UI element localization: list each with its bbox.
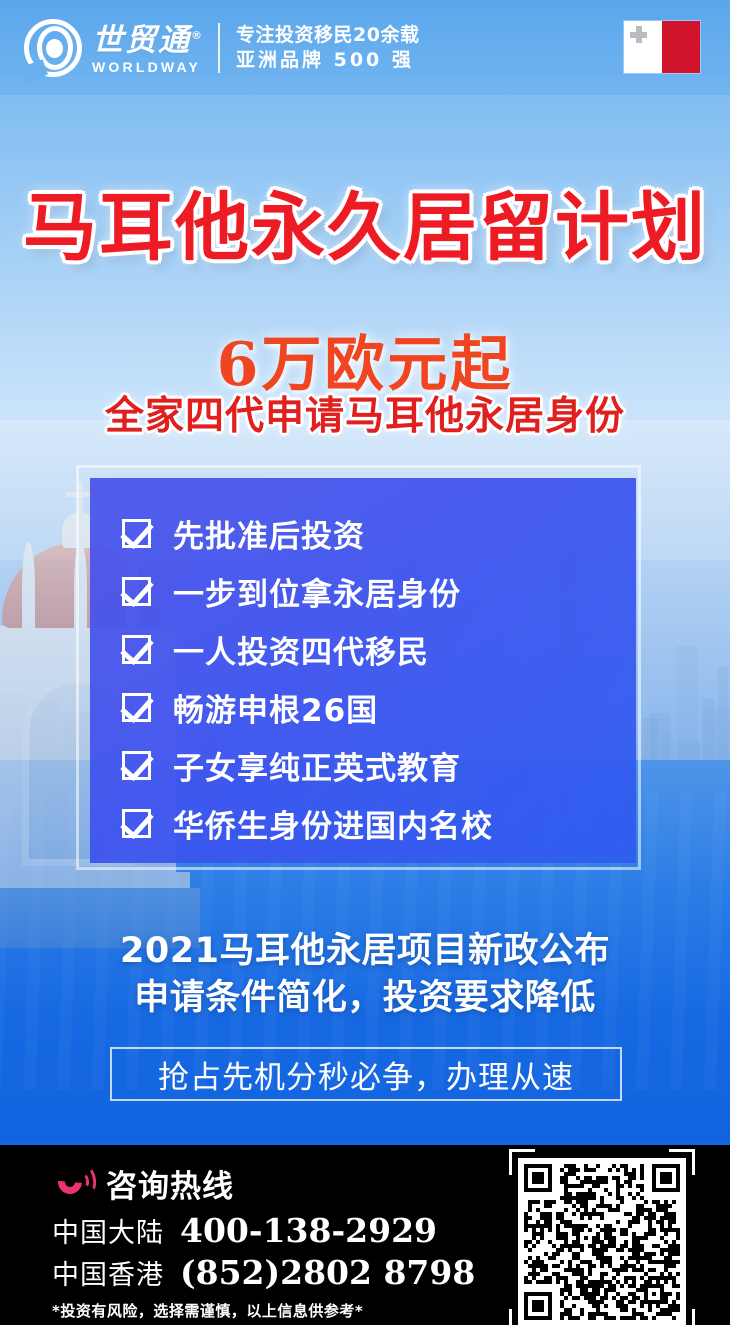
- brand-text: 世贸通® WORLDWAY: [92, 19, 204, 75]
- header-slogan: 专注投资移民20余载 亚洲品牌 500 强: [236, 23, 419, 73]
- feature-list: 先批准后投资一步到位拿永居身份一人投资四代移民畅游申根26国子女享纯正英式教育华…: [90, 478, 636, 863]
- feature-item: 华侨生身份进国内名校: [122, 794, 636, 852]
- feature-item-label: 畅游申根26国: [173, 685, 378, 730]
- tagline-text: 抢占先机分秒必争，办理从速: [158, 1052, 574, 1097]
- feature-item-label: 一步到位拿永居身份: [173, 569, 461, 614]
- feature-item: 畅游申根26国: [122, 678, 636, 736]
- worldway-logo-icon: [24, 19, 82, 77]
- header-divider: [218, 23, 220, 73]
- feature-item: 先批准后投资: [122, 504, 636, 562]
- qr-frame: [518, 1158, 686, 1325]
- check-icon: [122, 577, 151, 606]
- check-icon: [122, 751, 151, 780]
- page-footer: 咨询热线 中国大陆 400-138-2929 中国香港 (852)2802 87…: [0, 1145, 730, 1325]
- feature-item: 一人投资四代移民: [122, 620, 636, 678]
- slogan-line-1: 专注投资移民20余载: [236, 23, 419, 48]
- hotline-header: 咨询热线: [54, 1161, 234, 1206]
- news-line-2: 申请条件简化，投资要求降低: [0, 975, 730, 1022]
- contact-phone-number[interactable]: 400-138-2929: [180, 1211, 437, 1250]
- phone-icon: [54, 1164, 94, 1204]
- disclaimer-text: *投资有风险，选择需谨慎，以上信息供参考*: [52, 1300, 363, 1321]
- news-block: 2021马耳他永居项目新政公布 申请条件简化，投资要求降低: [0, 928, 730, 1022]
- contact-row-hongkong[interactable]: 中国香港 (852)2802 8798: [52, 1253, 475, 1292]
- check-icon: [122, 635, 151, 664]
- feature-item-label: 华侨生身份进国内名校: [173, 801, 493, 846]
- malta-flag-icon: [624, 21, 700, 73]
- page-title: 马耳他永久居留计划: [0, 168, 730, 275]
- feature-item-label: 子女享纯正英式教育: [173, 743, 461, 788]
- news-line-1: 2021马耳他永居项目新政公布: [0, 928, 730, 975]
- george-cross-icon: [630, 26, 647, 43]
- check-icon: [122, 809, 151, 838]
- hotline-label: 咨询热线: [106, 1161, 234, 1206]
- qr-code-image[interactable]: [518, 1158, 686, 1325]
- contact-region-label: 中国大陆: [52, 1211, 164, 1250]
- brand-name-cn: 世贸通®: [92, 19, 204, 57]
- check-icon: [122, 693, 151, 722]
- feature-item: 一步到位拿永居身份: [122, 562, 636, 620]
- poster-root: 世贸通® WORLDWAY 专注投资移民20余载 亚洲品牌 500 强 马耳他永…: [0, 0, 730, 1325]
- tagline-box: 抢占先机分秒必争，办理从速: [110, 1047, 622, 1101]
- contact-row-mainland[interactable]: 中国大陆 400-138-2929: [52, 1211, 437, 1250]
- brand-name-en: WORLDWAY: [92, 59, 204, 76]
- feature-item: 子女享纯正英式教育: [122, 736, 636, 794]
- slogan-line-2: 亚洲品牌 500 强: [236, 48, 419, 73]
- check-icon: [122, 519, 151, 548]
- qr-section[interactable]: （长按识别二维码，立即咨询）: [509, 1158, 694, 1325]
- subtitle: 全家四代申请马耳他永居身份: [0, 385, 730, 441]
- page-header: 世贸通® WORLDWAY 专注投资移民20余载 亚洲品牌 500 强: [0, 0, 730, 95]
- feature-item-label: 一人投资四代移民: [173, 627, 429, 672]
- contact-region-label: 中国香港: [52, 1253, 164, 1292]
- contact-phone-number[interactable]: (852)2802 8798: [180, 1253, 475, 1292]
- feature-item-label: 先批准后投资: [173, 511, 365, 556]
